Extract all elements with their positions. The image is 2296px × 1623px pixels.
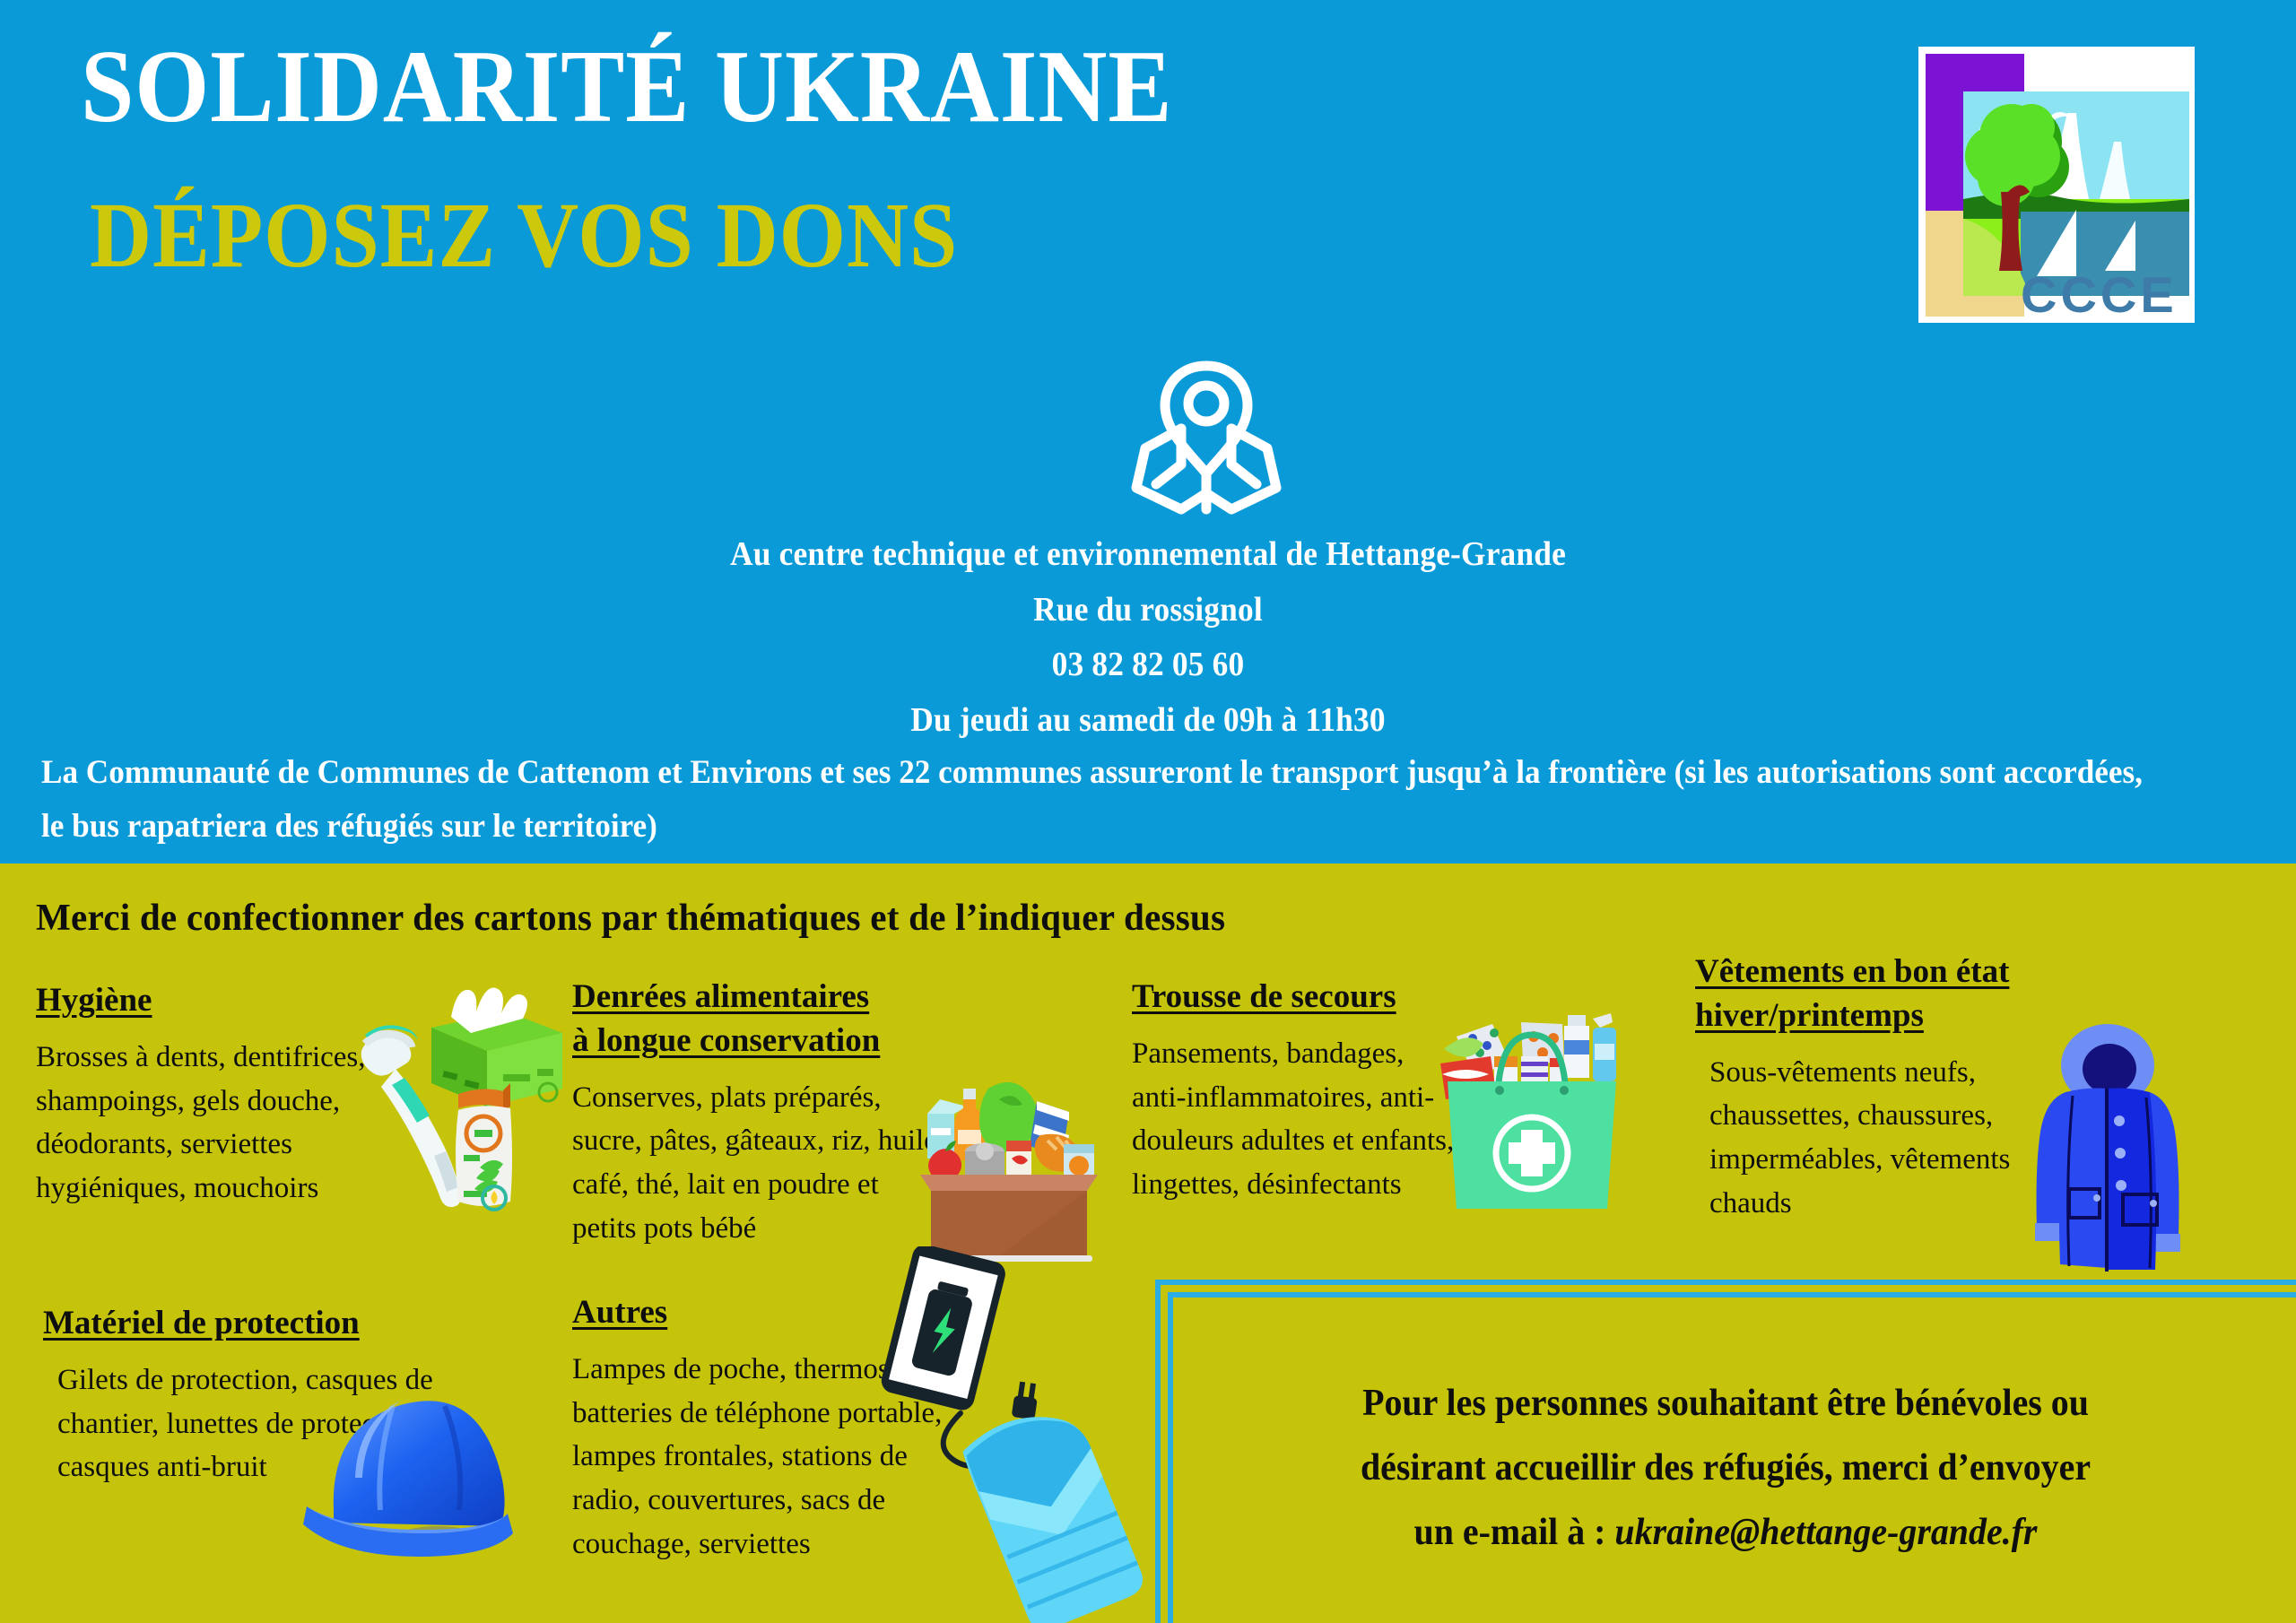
address-line-2: Rue du rossignol	[81, 583, 2216, 638]
category-materiel-heading: Matériel de protection	[43, 1302, 465, 1346]
category-hygiene-heading: Hygiène	[36, 979, 377, 1023]
page-title-line1: SOLIDARITÉ UKRAINE	[81, 34, 1172, 140]
poster-root: SOLIDARITÉ UKRAINE DÉPOSEZ VOS DONS	[0, 0, 2296, 1623]
volunteer-message: Pour les personnes souhaitant être bénév…	[1240, 1371, 2212, 1566]
volunteer-info-box: Pour les personnes souhaitant être bénév…	[1155, 1280, 2296, 1623]
ccce-logo-text: CCCE	[2021, 266, 2178, 323]
category-trousse-de-secours: Trousse de secours Pansements, bandages,…	[1132, 976, 1455, 1207]
category-denrees-heading: Denrées alimentaires à longue conservati…	[572, 976, 949, 1063]
transport-notice: La Communauté de Communes de Cattenom et…	[41, 746, 2154, 854]
sleeping-bag-illustration	[933, 1399, 1184, 1623]
category-hygiene: Hygiène Brosses à dents, dentifrices, sh…	[36, 979, 377, 1211]
hard-hat-illustration	[287, 1363, 520, 1578]
toothbrush-tissues-shampoo-illustration	[345, 985, 570, 1218]
phone-number: 03 82 82 05 60	[81, 638, 2216, 693]
first-aid-bag-illustration	[1435, 994, 1628, 1231]
page-title-line2: DÉPOSEZ VOS DONS	[90, 188, 958, 283]
volunteer-email-prefix: un e-mail à :	[1414, 1512, 1615, 1553]
category-denrees-items: Conserves, plats préparés, sucre, pâtes,…	[572, 1076, 949, 1251]
grocery-box-illustration	[906, 1058, 1112, 1264]
address-line-1: Au centre technique et environnemental d…	[81, 527, 2216, 583]
opening-hours: Du jeudi au samedi de 09h à 11h30	[81, 693, 2216, 749]
address-block: Au centre technique et environnemental d…	[0, 527, 2296, 748]
map-location-pin-icon	[1126, 359, 1287, 529]
category-trousse-heading: Trousse de secours	[1132, 976, 1455, 1020]
volunteer-line-1: Pour les personnes souhaitant être bénév…	[1362, 1383, 2089, 1424]
category-hygiene-items: Brosses à dents, dentifrices, shampoings…	[36, 1036, 377, 1211]
volunteer-line-2: désirant accueillir des réfugiés, merci …	[1361, 1447, 2091, 1488]
category-denrees-alimentaires: Denrées alimentaires à longue conservati…	[572, 976, 949, 1251]
winter-coat-illustration	[2013, 1022, 2202, 1282]
volunteer-email-address[interactable]: ukraine@hettange-grande.fr	[1614, 1512, 2037, 1553]
donation-instruction: Merci de confectionner des cartons par t…	[36, 897, 1225, 940]
category-trousse-items: Pansements, bandages, anti-inflammatoire…	[1132, 1032, 1455, 1207]
ccce-logo: CCCE	[1913, 41, 2200, 328]
